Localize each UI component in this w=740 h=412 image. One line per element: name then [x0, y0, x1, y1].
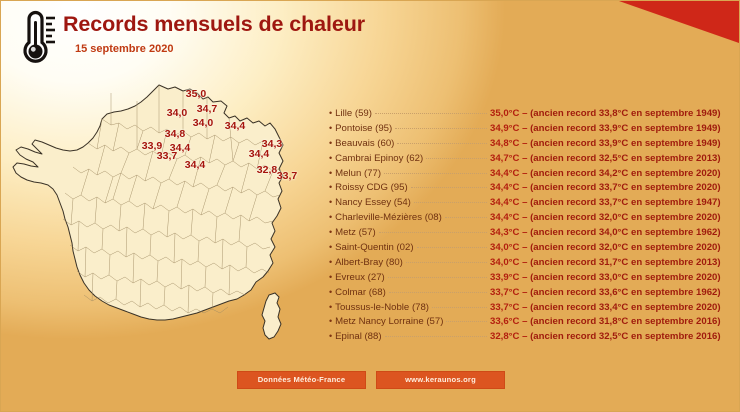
leader-dots [411, 187, 487, 188]
bullet-icon: • [329, 273, 332, 282]
record-place: Metz (57) [335, 227, 376, 238]
record-previous: (ancien record 34,2°C en septembre 2020) [530, 168, 720, 179]
leader-dots [432, 307, 487, 308]
record-previous: (ancien record 33,9°C en septembre 1949) [530, 123, 720, 134]
record-previous: (ancien record 34,0°C en septembre 1962) [530, 227, 720, 238]
bullet-icon: • [329, 154, 332, 163]
record-value: 32,8°C – (ancien record 32,5°C en septem… [490, 331, 733, 342]
record-temperature: 34,4°C [490, 197, 519, 208]
record-separator: – [519, 138, 530, 149]
record-place: Colmar (68) [335, 287, 386, 298]
record-temperature: 34,4°C [490, 182, 519, 193]
record-row: •Evreux (27)33,9°C – (ancien record 33,0… [329, 272, 733, 287]
bullet-icon: • [329, 332, 332, 341]
record-value: 34,4°C – (ancien record 33,7°C en septem… [490, 182, 733, 193]
record-temperature: 34,0°C [490, 257, 519, 268]
record-place: Beauvais (60) [335, 138, 394, 149]
page-title: Records mensuels de chaleur [63, 13, 365, 36]
leader-dots [417, 247, 487, 248]
bullet-icon: • [329, 317, 332, 326]
record-row: •Cambrai Epinoy (62)34,7°C – (ancien rec… [329, 153, 733, 168]
record-value: 34,4°C – (ancien record 32,0°C en septem… [490, 212, 733, 223]
record-temperature: 34,3°C [490, 227, 519, 238]
record-previous: (ancien record 32,5°C en septembre 2016) [530, 331, 720, 342]
record-place: Metz Nancy Lorraine (57) [335, 316, 443, 327]
bullet-icon: • [329, 213, 332, 222]
bullet-icon: • [329, 228, 332, 237]
record-value: 34,4°C – (ancien record 33,7°C en septem… [490, 197, 733, 208]
record-separator: – [519, 212, 530, 223]
thermometer-icon [15, 9, 57, 65]
bullet-icon: • [329, 243, 332, 252]
record-place: Lille (59) [335, 108, 372, 119]
bullet-icon: • [329, 124, 332, 133]
record-value: 33,7°C – (ancien record 33,6°C en septem… [490, 287, 733, 298]
leader-dots [414, 202, 487, 203]
leader-dots [395, 128, 487, 129]
leader-dots [384, 173, 487, 174]
record-place: Melun (77) [335, 168, 381, 179]
records-list: •Lille (59)35,0°C – (ancien record 33,8°… [329, 108, 733, 346]
record-row: •Nancy Essey (54)34,4°C – (ancien record… [329, 197, 733, 212]
record-row: •Saint-Quentin (02)34,0°C – (ancien reco… [329, 242, 733, 257]
record-separator: – [519, 108, 530, 119]
record-row: •Melun (77)34,4°C – (ancien record 34,2°… [329, 168, 733, 183]
record-value: 34,3°C – (ancien record 34,0°C en septem… [490, 227, 733, 238]
bullet-icon: • [329, 258, 332, 267]
bullet-icon: • [329, 288, 332, 297]
record-row: •Metz (57)34,3°C – (ancien record 34,0°C… [329, 227, 733, 242]
record-value: 33,6°C – (ancien record 31,8°C en septem… [490, 316, 733, 327]
record-previous: (ancien record 33,8°C en septembre 1949) [530, 108, 720, 119]
record-temperature: 33,6°C [490, 316, 519, 327]
footer: Données Météo-France www.keraunos.org [1, 371, 740, 389]
record-place: Saint-Quentin (02) [335, 242, 413, 253]
record-temperature: 34,7°C [490, 153, 519, 164]
record-separator: – [519, 197, 530, 208]
website-badge[interactable]: www.keraunos.org [376, 371, 505, 389]
record-temperature: 34,4°C [490, 168, 519, 179]
leader-dots [445, 217, 487, 218]
record-value: 34,0°C – (ancien record 31,7°C en septem… [490, 257, 733, 268]
record-place: Nancy Essey (54) [335, 197, 411, 208]
record-separator: – [519, 227, 530, 238]
record-temperature: 35,0°C [490, 108, 519, 119]
record-previous: (ancien record 33,0°C en septembre 2020) [530, 272, 720, 283]
record-separator: – [519, 182, 530, 193]
record-previous: (ancien record 31,7°C en septembre 2013) [530, 257, 720, 268]
bullet-icon: • [329, 183, 332, 192]
corner-accent-triangle [619, 1, 739, 43]
bullet-icon: • [329, 109, 332, 118]
record-previous: (ancien record 33,6°C en septembre 1962) [530, 287, 720, 298]
corsica-outline [262, 293, 281, 339]
record-temperature: 32,8°C [490, 331, 519, 342]
france-map: 35,034,034,734,034,434,833,934,433,734,4… [7, 63, 327, 383]
record-temperature: 34,4°C [490, 212, 519, 223]
record-place: Albert-Bray (80) [335, 257, 403, 268]
record-row: •Charleville-Mézières (08)34,4°C – (anci… [329, 212, 733, 227]
record-previous: (ancien record 33,7°C en septembre 1947) [530, 197, 720, 208]
record-previous: (ancien record 32,0°C en septembre 2020) [530, 212, 720, 223]
record-place: Cambrai Epinoy (62) [335, 153, 423, 164]
france-map-svg [7, 63, 327, 383]
record-row: •Colmar (68)33,7°C – (ancien record 33,6… [329, 287, 733, 302]
record-separator: – [519, 242, 530, 253]
record-separator: – [519, 123, 530, 134]
source-badge: Données Météo-France [237, 371, 366, 389]
record-place: Toussus-le-Noble (78) [335, 302, 429, 313]
record-previous: (ancien record 33,7°C en septembre 2020) [530, 182, 720, 193]
record-previous: (ancien record 33,9°C en septembre 1949) [530, 138, 720, 149]
bullet-icon: • [329, 198, 332, 207]
record-separator: – [519, 316, 530, 327]
record-temperature: 34,0°C [490, 242, 519, 253]
record-previous: (ancien record 31,8°C en septembre 2016) [530, 316, 720, 327]
record-row: •Albert-Bray (80)34,0°C – (ancien record… [329, 257, 733, 272]
record-value: 35,0°C – (ancien record 33,8°C en septem… [490, 108, 733, 119]
record-row: •Lille (59)35,0°C – (ancien record 33,8°… [329, 108, 733, 123]
record-value: 34,4°C – (ancien record 34,2°C en septem… [490, 168, 733, 179]
record-temperature: 34,8°C [490, 138, 519, 149]
leader-dots [426, 158, 487, 159]
record-row: •Toussus-le-Noble (78)33,7°C – (ancien r… [329, 302, 733, 317]
record-place: Charleville-Mézières (08) [335, 212, 442, 223]
record-place: Pontoise (95) [335, 123, 392, 134]
record-row: •Beauvais (60)34,8°C – (ancien record 33… [329, 138, 733, 153]
record-row: •Roissy CDG (95)34,4°C – (ancien record … [329, 182, 733, 197]
record-separator: – [519, 272, 530, 283]
record-value: 34,0°C – (ancien record 32,0°C en septem… [490, 242, 733, 253]
record-separator: – [519, 153, 530, 164]
record-previous: (ancien record 32,0°C en septembre 2020) [530, 242, 720, 253]
leader-dots [375, 113, 487, 114]
record-previous: (ancien record 32,5°C en septembre 2013) [530, 153, 720, 164]
record-separator: – [519, 257, 530, 268]
record-temperature: 33,9°C [490, 272, 519, 283]
record-separator: – [519, 331, 530, 342]
leader-dots [388, 277, 487, 278]
record-place: Epinal (88) [335, 331, 381, 342]
record-value: 34,8°C – (ancien record 33,9°C en septem… [490, 138, 733, 149]
record-separator: – [519, 168, 530, 179]
record-value: 33,9°C – (ancien record 33,0°C en septem… [490, 272, 733, 283]
record-value: 34,7°C – (ancien record 32,5°C en septem… [490, 153, 733, 164]
record-value: 33,7°C – (ancien record 33,4°C en septem… [490, 302, 733, 313]
record-row: •Metz Nancy Lorraine (57)33,6°C – (ancie… [329, 316, 733, 331]
bullet-icon: • [329, 169, 332, 178]
record-temperature: 34,9°C [490, 123, 519, 134]
record-row: •Pontoise (95)34,9°C – (ancien record 33… [329, 123, 733, 138]
bullet-icon: • [329, 303, 332, 312]
header: Records mensuels de chaleur 15 septembre… [15, 9, 365, 65]
leader-dots [379, 232, 487, 233]
record-row: •Epinal (88)32,8°C – (ancien record 32,5… [329, 331, 733, 346]
record-place: Roissy CDG (95) [335, 182, 408, 193]
record-previous: (ancien record 33,4°C en septembre 2020) [530, 302, 720, 313]
france-outline [13, 85, 283, 320]
record-separator: – [519, 287, 530, 298]
record-separator: – [519, 302, 530, 313]
infographic-canvas: Records mensuels de chaleur 15 septembre… [0, 0, 740, 412]
leader-dots [389, 292, 487, 293]
leader-dots [446, 321, 487, 322]
leader-dots [397, 143, 487, 144]
record-temperature: 33,7°C [490, 302, 519, 313]
record-value: 34,9°C – (ancien record 33,9°C en septem… [490, 123, 733, 134]
page-date: 15 septembre 2020 [75, 43, 365, 55]
leader-dots [385, 336, 487, 337]
record-temperature: 33,7°C [490, 287, 519, 298]
bullet-icon: • [329, 139, 332, 148]
record-place: Evreux (27) [335, 272, 385, 283]
leader-dots [406, 262, 487, 263]
